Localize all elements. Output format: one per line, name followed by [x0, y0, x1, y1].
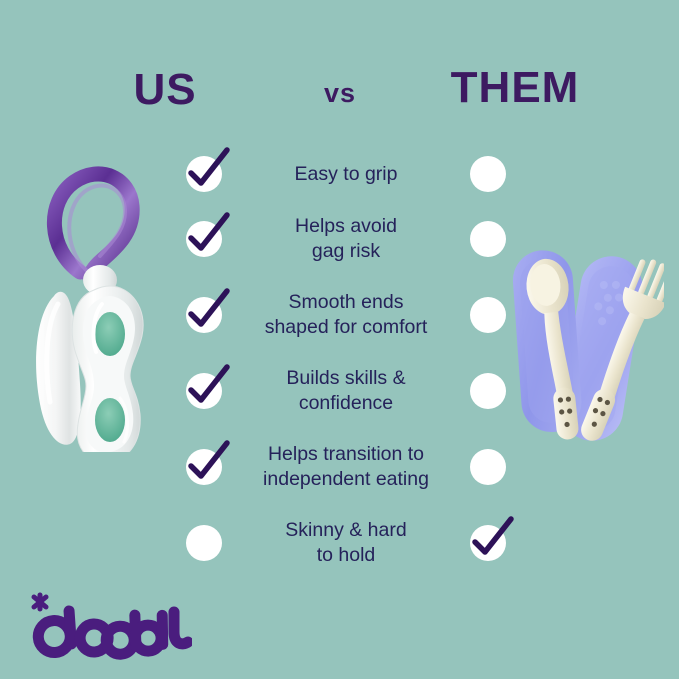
- us-check-mark: [186, 297, 222, 333]
- doddl-cutlery-illustration: [24, 152, 184, 452]
- comparison-row-label: Builds skills & confidence: [222, 366, 470, 416]
- checkmark-icon: [182, 145, 232, 195]
- mark-circle: [470, 373, 506, 409]
- mark-circle: [470, 221, 506, 257]
- them-empty-mark: [470, 297, 506, 333]
- us-empty-mark: [186, 525, 222, 561]
- them-empty-mark: [470, 221, 506, 257]
- mark-circle: [470, 297, 506, 333]
- comparison-row: Helps avoid gag risk: [186, 214, 506, 264]
- doddl-wordmark-icon: [22, 588, 192, 662]
- competitor-cutlery-illustration: [492, 248, 664, 470]
- checkmark-icon: [182, 438, 232, 488]
- us-check-mark: [186, 221, 222, 257]
- comparison-row: Helps transition to independent eating: [186, 442, 506, 492]
- comparison-row: Skinny & hard to hold: [186, 518, 506, 568]
- checkmark-icon: [466, 514, 516, 564]
- them-empty-mark: [470, 449, 506, 485]
- mark-circle: [470, 449, 506, 485]
- comparison-row: Smooth ends shaped for comfort: [186, 290, 506, 340]
- us-check-mark: [186, 156, 222, 192]
- comparison-row-label: Skinny & hard to hold: [222, 518, 470, 568]
- mark-circle: [186, 525, 222, 561]
- comparison-rows: Easy to gripHelps avoid gag riskSmooth e…: [186, 148, 506, 568]
- comparison-row-label: Easy to grip: [222, 162, 470, 187]
- them-empty-mark: [470, 156, 506, 192]
- comparison-row-label: Helps transition to independent eating: [222, 442, 470, 492]
- product-image-competitor: [492, 248, 664, 470]
- comparison-row-label: Helps avoid gag risk: [222, 214, 470, 264]
- mark-circle: [470, 156, 506, 192]
- them-check-mark: [470, 525, 506, 561]
- comparison-row: Builds skills & confidence: [186, 366, 506, 416]
- checkmark-icon: [182, 210, 232, 260]
- checkmark-icon: [182, 362, 232, 412]
- checkmark-icon: [182, 286, 232, 336]
- us-check-mark: [186, 449, 222, 485]
- us-check-mark: [186, 373, 222, 409]
- comparison-row: Easy to grip: [186, 156, 506, 192]
- them-empty-mark: [470, 373, 506, 409]
- product-image-doddl: [24, 152, 184, 452]
- column-heading-them: THEM: [350, 66, 679, 110]
- comparison-row-label: Smooth ends shaped for comfort: [222, 290, 470, 340]
- comparison-infographic: US vs THEM: [0, 0, 679, 679]
- brand-logo: [22, 588, 192, 662]
